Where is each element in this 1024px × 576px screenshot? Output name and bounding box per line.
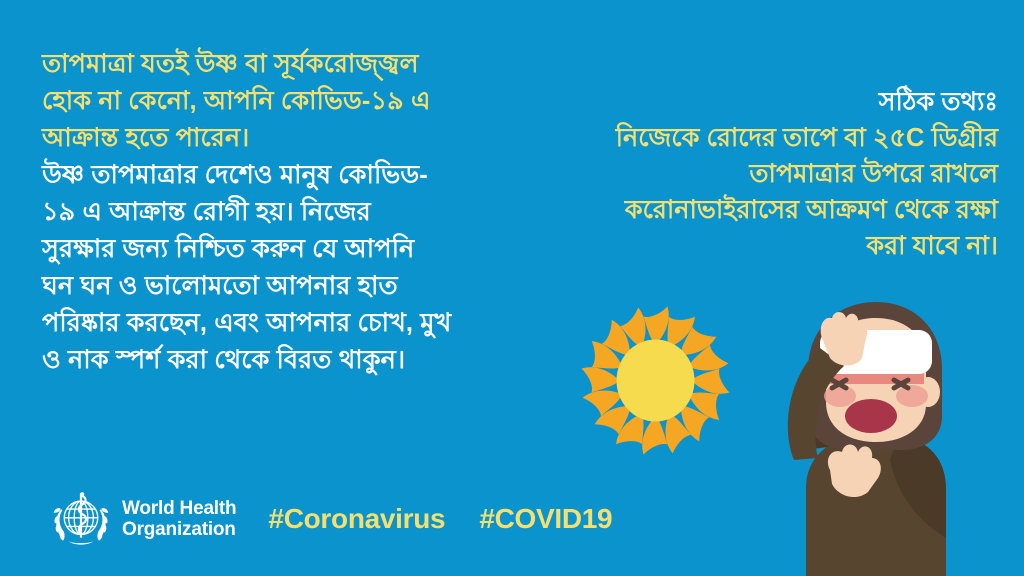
fact-line-4: করা যাবে না। bbox=[528, 228, 998, 264]
who-emblem-icon bbox=[50, 488, 112, 550]
person-eye-left bbox=[832, 380, 846, 388]
left-line-8: পরিষ্কার করছেন, এবং আপনার চোখ, মুখ bbox=[42, 305, 512, 342]
sun-core bbox=[617, 340, 695, 422]
hashtag-covid19[interactable]: #COVID19 bbox=[479, 503, 612, 535]
person-eye-right bbox=[894, 380, 908, 388]
person-cheek-right bbox=[896, 385, 928, 407]
left-line-3: আক্রান্ত হতে পারেন। bbox=[42, 120, 512, 157]
sun-icon bbox=[578, 303, 733, 458]
hashtag-coronavirus[interactable]: #Coronavirus bbox=[268, 503, 445, 535]
footer-bar: World Health Organization #Coronavirus #… bbox=[50, 488, 612, 550]
who-wordmark-line2: Organization bbox=[122, 519, 236, 540]
serpent-head bbox=[80, 492, 84, 496]
left-line-5: ১৯ এ আক্রান্ত রোগী হয়। নিজের bbox=[42, 194, 512, 231]
left-line-6: সুরক্ষার জন্য নিশ্চিত করুন যে আপনি bbox=[42, 231, 512, 268]
person-mouth bbox=[845, 399, 897, 433]
laurel-left bbox=[54, 508, 65, 541]
who-wordmark-line1: World Health bbox=[122, 498, 236, 519]
person-cheek-left bbox=[824, 385, 856, 407]
laurel-right bbox=[97, 508, 108, 541]
left-line-1: তাপমাত্রা যতই উষ্ণ বা সূর্যকরোজ্জ্বল bbox=[42, 46, 512, 83]
poster-canvas: তাপমাত্রা যতই উষ্ণ বা সূর্যকরোজ্জ্বল হোক… bbox=[0, 0, 1024, 576]
left-line-2: হোক না কেনো, আপনি কোভিড-১৯ এ bbox=[42, 83, 512, 120]
left-line-4: উষ্ণ তাপমাত্রার দেশেও মানুষ কোভিড- bbox=[42, 157, 512, 194]
who-wordmark: World Health Organization bbox=[122, 498, 236, 540]
sick-person-icon bbox=[770, 300, 1015, 576]
left-line-7: ঘন ঘন ও ভালোমতো আপনার হাত bbox=[42, 268, 512, 305]
fact-line-2: তাপমাত্রার উপরে রাখলে bbox=[528, 156, 998, 192]
fact-line-3: করোনাভাইরাসের আক্রমণ থেকে রক্ষা bbox=[528, 192, 998, 228]
left-message-block: তাপমাত্রা যতই উষ্ণ বা সূর্যকরোজ্জ্বল হোক… bbox=[42, 46, 512, 379]
right-factbox-block: সঠিক তথ্যঃ নিজেকে রোদের তাপে বা ২৫C ডিগ্… bbox=[528, 84, 998, 264]
laurel-base bbox=[69, 541, 94, 544]
fact-line-1: নিজেকে রোদের তাপে বা ২৫C ডিগ্রীর bbox=[528, 120, 998, 156]
fact-heading: সঠিক তথ্যঃ bbox=[528, 84, 998, 120]
left-line-9: ও নাক স্পর্শ করা থেকে বিরত থাকুন। bbox=[42, 342, 512, 379]
